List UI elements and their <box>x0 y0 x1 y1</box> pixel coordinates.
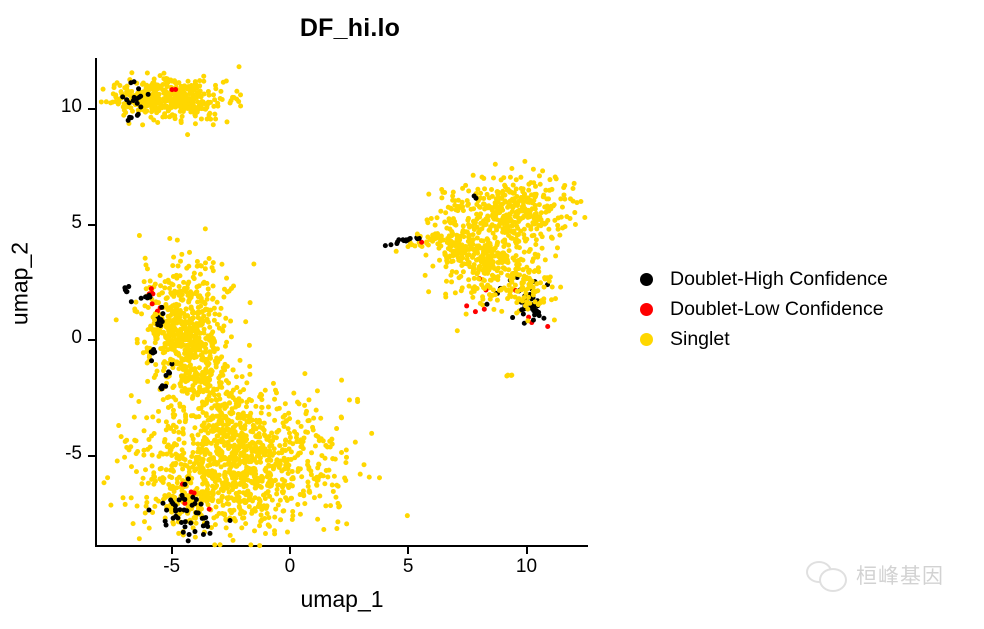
data-point <box>152 76 157 81</box>
data-point <box>499 270 504 275</box>
data-point <box>266 434 271 439</box>
data-point <box>224 276 229 281</box>
data-point <box>172 413 177 418</box>
data-point <box>201 489 206 494</box>
data-point <box>254 460 259 465</box>
page-title: DF_hi.lo <box>0 14 700 43</box>
data-point <box>219 262 224 267</box>
scatter-points <box>96 58 588 546</box>
data-point <box>211 461 216 466</box>
data-point <box>522 206 527 211</box>
data-point <box>169 308 174 313</box>
data-point <box>459 263 464 268</box>
data-point <box>194 354 199 359</box>
data-point <box>193 330 198 335</box>
data-point <box>153 312 158 317</box>
data-point <box>262 428 267 433</box>
data-point <box>212 318 217 323</box>
data-point <box>409 242 414 247</box>
data-point <box>198 304 203 309</box>
data-point <box>426 192 431 197</box>
data-point <box>229 334 234 339</box>
data-point <box>294 439 299 444</box>
data-point <box>232 454 237 459</box>
data-point <box>533 242 538 247</box>
data-point <box>229 483 234 488</box>
data-point <box>176 263 181 268</box>
data-point <box>478 221 483 226</box>
data-point <box>104 99 109 104</box>
data-point <box>183 419 188 424</box>
data-point <box>231 538 236 543</box>
data-point <box>174 359 179 364</box>
data-point <box>325 475 330 480</box>
data-point <box>185 132 190 137</box>
data-point <box>151 470 156 475</box>
data-point <box>344 521 349 526</box>
data-point <box>166 394 171 399</box>
data-point <box>218 448 223 453</box>
data-point <box>453 243 458 248</box>
data-point <box>264 506 269 511</box>
data-point <box>169 357 174 362</box>
data-point <box>267 448 272 453</box>
data-point <box>510 205 515 210</box>
data-point <box>199 446 204 451</box>
data-point <box>175 455 180 460</box>
data-point <box>362 462 367 467</box>
data-point <box>243 521 248 526</box>
legend-swatch-icon <box>640 333 653 346</box>
data-point <box>260 478 265 483</box>
x-tick-label: 5 <box>378 556 438 578</box>
data-point <box>134 451 139 456</box>
data-point <box>454 207 459 212</box>
data-point <box>135 504 140 509</box>
data-point <box>508 175 513 180</box>
data-point <box>491 307 496 312</box>
data-point <box>234 374 239 379</box>
data-point <box>271 381 276 386</box>
data-point <box>471 270 476 275</box>
data-point <box>482 266 487 271</box>
data-point <box>539 210 544 215</box>
data-point <box>249 457 254 462</box>
data-point <box>212 472 217 477</box>
data-point <box>274 430 279 435</box>
data-point <box>228 319 233 324</box>
data-point <box>247 343 252 348</box>
data-point <box>202 402 207 407</box>
data-point <box>193 516 198 521</box>
data-point <box>220 494 225 499</box>
data-point <box>221 295 226 300</box>
data-point <box>487 228 492 233</box>
data-point <box>241 387 246 392</box>
y-axis-label-wrap: umap_2 <box>0 0 36 629</box>
data-point <box>173 503 178 508</box>
data-point <box>146 305 151 310</box>
data-point <box>519 307 524 312</box>
data-point <box>141 350 146 355</box>
data-point <box>150 464 155 469</box>
data-point <box>528 281 533 286</box>
data-point <box>443 294 448 299</box>
y-tick-mark <box>88 108 95 110</box>
data-point <box>166 314 171 319</box>
data-point <box>490 293 495 298</box>
data-point <box>151 86 156 91</box>
data-point <box>99 99 104 104</box>
data-point <box>203 226 208 231</box>
data-point <box>481 249 486 254</box>
data-point <box>461 224 466 229</box>
data-point <box>176 315 181 320</box>
data-point <box>263 388 268 393</box>
data-point <box>183 519 188 524</box>
legend: Doublet-High ConfidenceDoublet-Low Confi… <box>640 264 980 354</box>
data-point <box>499 309 504 314</box>
data-point <box>136 112 141 117</box>
data-point <box>219 439 224 444</box>
data-point <box>171 98 176 103</box>
legend-item[interactable]: Doublet-High Confidence <box>640 264 980 294</box>
data-point <box>145 379 150 384</box>
data-point <box>482 278 487 283</box>
data-point <box>179 373 184 378</box>
data-point <box>484 222 489 227</box>
data-point <box>191 275 196 280</box>
y-tick-label: -5 <box>36 443 82 465</box>
data-point <box>203 427 208 432</box>
data-point <box>448 220 453 225</box>
data-point <box>195 299 200 304</box>
data-point <box>253 477 258 482</box>
data-point <box>288 435 293 440</box>
legend-item[interactable]: Singlet <box>640 324 980 354</box>
data-point <box>284 418 289 423</box>
data-point <box>253 404 258 409</box>
data-point <box>299 443 304 448</box>
data-point <box>234 491 239 496</box>
data-point <box>306 484 311 489</box>
data-point <box>472 227 477 232</box>
data-point <box>255 453 260 458</box>
wechat-icon <box>806 560 848 590</box>
data-point <box>162 437 167 442</box>
legend-label: Doublet-Low Confidence <box>670 298 884 321</box>
data-point <box>187 469 192 474</box>
data-point <box>207 531 212 536</box>
data-point <box>253 495 258 500</box>
data-point <box>231 395 236 400</box>
data-point <box>150 453 155 458</box>
data-point <box>234 89 239 94</box>
chart-canvas: DF_hi.lo 1050-5 -50510 umap_2 umap_1 Dou… <box>0 0 984 629</box>
data-point <box>257 424 262 429</box>
data-point <box>377 475 382 480</box>
data-point <box>124 289 129 294</box>
data-point <box>430 264 435 269</box>
data-point <box>211 92 216 97</box>
data-point <box>223 476 228 481</box>
data-point <box>290 513 295 518</box>
data-point <box>141 81 146 86</box>
data-point <box>503 199 508 204</box>
data-point <box>493 205 498 210</box>
data-point <box>493 235 498 240</box>
data-point <box>219 306 224 311</box>
data-point <box>127 115 132 120</box>
data-point <box>180 297 185 302</box>
data-point <box>212 349 217 354</box>
data-point <box>460 200 465 205</box>
data-point <box>199 502 204 507</box>
data-point <box>289 457 294 462</box>
data-point <box>272 397 277 402</box>
data-point <box>572 210 577 215</box>
data-point <box>198 263 203 268</box>
data-point <box>206 320 211 325</box>
data-point <box>188 376 193 381</box>
data-point <box>252 528 257 533</box>
data-point <box>512 258 517 263</box>
data-point <box>195 441 200 446</box>
data-point <box>217 427 222 432</box>
data-point <box>159 478 164 483</box>
data-point <box>466 232 471 237</box>
data-point <box>180 493 185 498</box>
data-point <box>147 293 152 298</box>
data-point <box>499 258 504 263</box>
data-point <box>224 525 229 530</box>
data-point <box>234 498 239 503</box>
data-point <box>190 465 195 470</box>
data-point <box>287 446 292 451</box>
data-point <box>236 403 241 408</box>
data-point <box>248 300 253 305</box>
data-point <box>173 397 178 402</box>
data-point <box>241 480 246 485</box>
data-point <box>142 519 147 524</box>
data-point <box>195 259 200 264</box>
data-point <box>231 368 236 373</box>
data-point <box>201 99 206 104</box>
data-point <box>260 405 265 410</box>
data-point <box>207 507 212 512</box>
data-point <box>133 300 138 305</box>
data-point <box>313 444 318 449</box>
data-point <box>170 87 175 92</box>
data-point <box>283 442 288 447</box>
data-point <box>171 469 176 474</box>
data-point <box>161 361 166 366</box>
data-point <box>123 439 128 444</box>
data-point <box>514 310 519 315</box>
data-point <box>164 427 169 432</box>
data-point <box>447 227 452 232</box>
data-point <box>175 238 180 243</box>
data-point <box>187 250 192 255</box>
data-point <box>482 186 487 191</box>
data-point <box>225 364 230 369</box>
legend-swatch-icon <box>640 273 653 286</box>
data-point <box>561 192 566 197</box>
data-point <box>266 463 271 468</box>
data-point <box>259 410 264 415</box>
data-point <box>520 282 525 287</box>
data-point <box>177 419 182 424</box>
data-point <box>141 476 146 481</box>
data-point <box>194 521 199 526</box>
data-point <box>178 343 183 348</box>
data-point <box>545 324 550 329</box>
data-point <box>132 415 137 420</box>
data-point <box>507 293 512 298</box>
data-point <box>143 262 148 267</box>
data-point <box>160 311 165 316</box>
data-point <box>302 403 307 408</box>
data-point <box>216 406 221 411</box>
data-point <box>164 508 169 513</box>
data-point <box>394 241 399 246</box>
data-point <box>472 247 477 252</box>
data-point <box>304 409 309 414</box>
data-point <box>205 307 210 312</box>
data-point <box>506 218 511 223</box>
data-point <box>476 230 481 235</box>
data-point <box>209 398 214 403</box>
data-point <box>272 531 277 536</box>
data-point <box>226 440 231 445</box>
data-point <box>435 215 440 220</box>
data-point <box>199 116 204 121</box>
data-point <box>369 431 374 436</box>
data-point <box>211 515 216 520</box>
data-point <box>136 86 141 91</box>
data-point <box>318 472 323 477</box>
data-point <box>554 176 559 181</box>
data-point <box>522 250 527 255</box>
data-point <box>285 483 290 488</box>
data-point <box>181 365 186 370</box>
data-point <box>334 483 339 488</box>
data-point <box>328 503 333 508</box>
data-point <box>468 237 473 242</box>
data-point <box>139 481 144 486</box>
data-point <box>316 434 321 439</box>
data-point <box>552 218 557 223</box>
data-point <box>472 194 477 199</box>
data-point <box>510 197 515 202</box>
data-point <box>187 105 192 110</box>
data-point <box>180 452 185 457</box>
data-point <box>259 393 264 398</box>
data-point <box>188 362 193 367</box>
data-point <box>531 290 536 295</box>
data-point <box>266 522 271 527</box>
data-point <box>124 87 129 92</box>
data-point <box>108 100 113 105</box>
legend-label: Singlet <box>670 328 730 351</box>
data-point <box>193 375 198 380</box>
data-point <box>221 503 226 508</box>
data-point <box>394 249 399 254</box>
data-point <box>240 516 245 521</box>
data-point <box>199 316 204 321</box>
data-point <box>176 437 181 442</box>
data-point <box>303 429 308 434</box>
data-point <box>147 87 152 92</box>
data-point <box>283 438 288 443</box>
data-point <box>550 285 555 290</box>
data-point <box>572 181 577 186</box>
data-point <box>186 538 191 543</box>
data-point <box>216 477 221 482</box>
data-point <box>144 500 149 505</box>
data-point <box>466 189 471 194</box>
data-point <box>540 246 545 251</box>
data-point <box>192 529 197 534</box>
data-point <box>173 514 178 519</box>
data-point <box>276 451 281 456</box>
data-point <box>343 478 348 483</box>
data-point <box>207 256 212 261</box>
data-point <box>464 261 469 266</box>
data-point <box>136 399 141 404</box>
data-point <box>538 232 543 237</box>
data-point <box>138 105 143 110</box>
data-point <box>201 516 206 521</box>
data-point <box>465 203 470 208</box>
data-point <box>211 457 216 462</box>
data-point <box>164 321 169 326</box>
data-point <box>201 457 206 462</box>
data-point <box>185 345 190 350</box>
data-point <box>206 286 211 291</box>
data-point <box>191 388 196 393</box>
data-point <box>169 403 174 408</box>
data-point <box>521 276 526 281</box>
data-point <box>116 423 121 428</box>
data-point <box>283 401 288 406</box>
data-point <box>270 438 275 443</box>
data-point <box>139 296 144 301</box>
data-point <box>538 280 543 285</box>
data-point <box>517 245 522 250</box>
data-point <box>253 509 258 514</box>
data-point <box>156 418 161 423</box>
data-point <box>265 474 270 479</box>
data-point <box>408 236 413 241</box>
data-point <box>528 227 533 232</box>
data-point <box>317 493 322 498</box>
data-point <box>179 321 184 326</box>
data-point <box>309 450 314 455</box>
data-point <box>491 215 496 220</box>
data-point <box>142 279 147 284</box>
data-point <box>471 173 476 178</box>
data-point <box>519 287 524 292</box>
data-point <box>244 465 249 470</box>
data-point <box>204 388 209 393</box>
data-point <box>228 518 233 523</box>
data-point <box>191 441 196 446</box>
data-point <box>495 250 500 255</box>
x-tick-label: -5 <box>142 556 202 578</box>
legend-item[interactable]: Doublet-Low Confidence <box>640 294 980 324</box>
data-point <box>318 416 323 421</box>
